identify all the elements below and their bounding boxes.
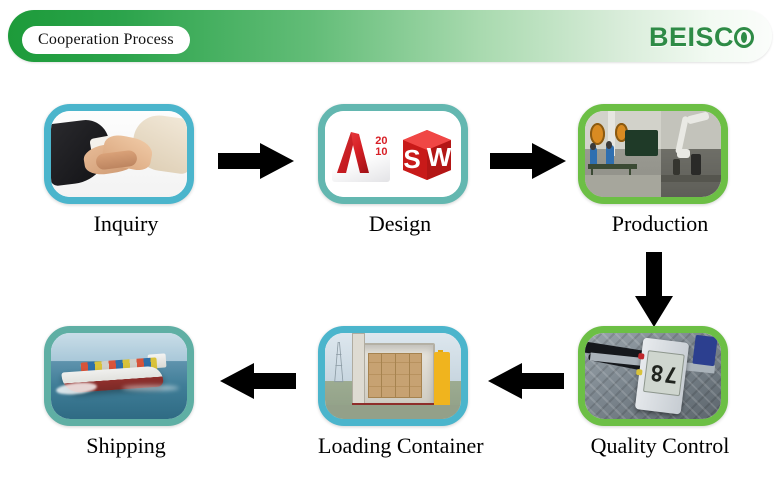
step-design[interactable]: 20 10 S W Design <box>318 104 482 237</box>
brand-logo: BEISC <box>649 22 758 53</box>
factory-floor-photo <box>585 111 721 197</box>
step-loading-container[interactable]: Loading Container <box>318 326 482 459</box>
caliper-reading: 78 <box>648 359 679 387</box>
brand-logo-text: BEISC <box>649 22 734 53</box>
arrow-loading-container-to-shipping <box>220 362 296 400</box>
step-shipping-label: Shipping <box>44 433 208 459</box>
step-inquiry[interactable]: Inquiry <box>44 104 208 237</box>
solidworks-icon: S W <box>399 126 455 182</box>
brand-logo-o-icon <box>734 24 758 51</box>
step-production[interactable]: Production <box>578 104 742 237</box>
handshake-photo <box>51 111 187 197</box>
page-title: Cooperation Process <box>38 31 174 49</box>
step-inquiry-label: Inquiry <box>44 211 208 237</box>
step-design-label: Design <box>318 211 482 237</box>
step-shipping-frame <box>44 326 194 426</box>
arrow-inquiry-to-design <box>218 142 294 180</box>
container-ship-photo <box>51 333 187 419</box>
cad-software-icons: 20 10 S W <box>325 111 461 197</box>
digital-caliper-photo: 78 <box>585 333 721 419</box>
step-quality-control[interactable]: 78 Quality Control <box>578 326 742 459</box>
step-shipping[interactable]: Shipping <box>44 326 208 459</box>
step-loading-container-label: Loading Container <box>318 433 482 459</box>
autocad-version: 20 10 <box>375 136 387 158</box>
step-quality-control-label: Quality Control <box>578 433 742 459</box>
arrow-production-to-quality-control <box>634 252 674 328</box>
container-loading-photo <box>325 333 461 419</box>
autocad-icon: 20 10 <box>332 126 390 182</box>
step-production-label: Production <box>578 211 742 237</box>
step-inquiry-frame <box>44 104 194 204</box>
svg-text:W: W <box>426 142 451 172</box>
step-design-frame: 20 10 S W <box>318 104 468 204</box>
step-loading-container-frame <box>318 326 468 426</box>
svg-text:S: S <box>403 144 420 174</box>
step-production-frame <box>578 104 728 204</box>
step-quality-control-frame: 78 <box>578 326 728 426</box>
arrow-design-to-production <box>490 142 566 180</box>
page-title-pill: Cooperation Process <box>22 26 190 54</box>
arrow-quality-control-to-loading-container <box>488 362 564 400</box>
